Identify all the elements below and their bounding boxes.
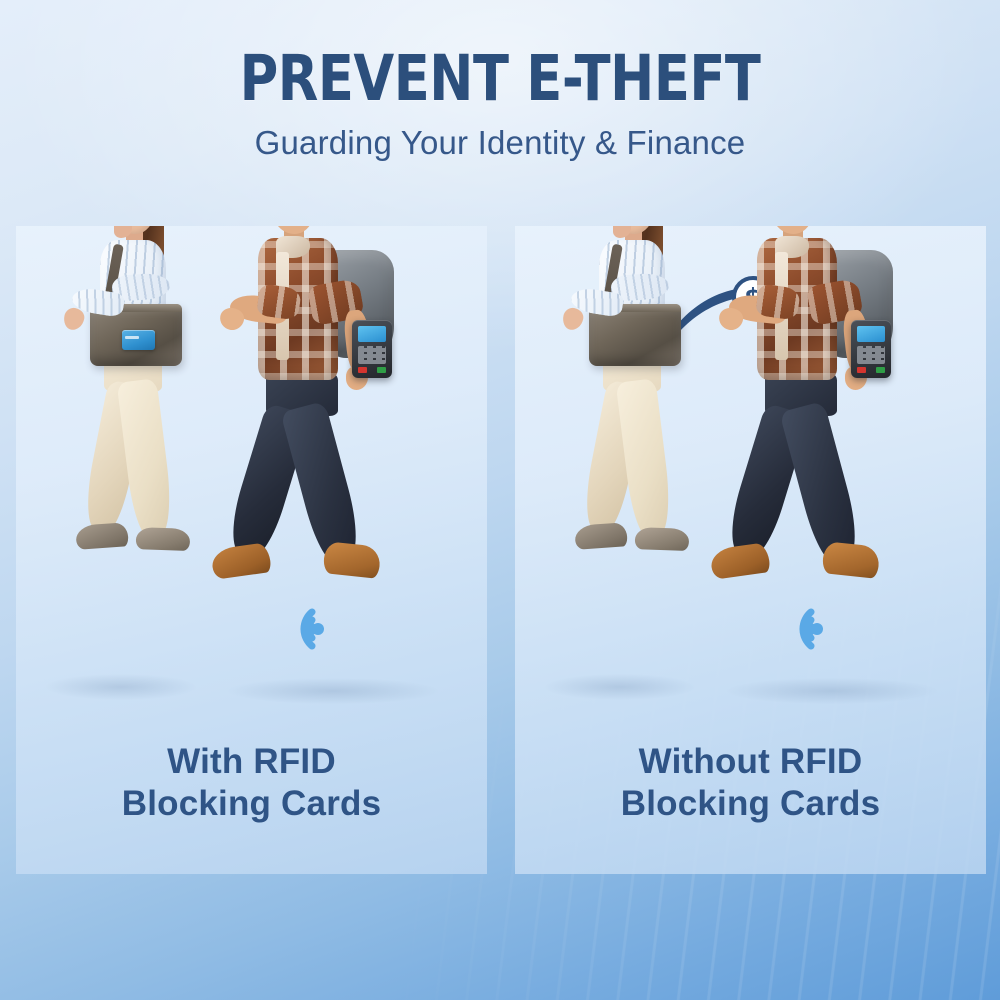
figure-woman-without-wallet (549, 226, 739, 598)
page-title: PREVENT E-THEFT (35, 0, 965, 110)
panel-without-rfid: $ (515, 226, 986, 874)
card-reader-screen (857, 326, 885, 342)
man-boot-front (821, 541, 880, 579)
man-boot-front (322, 541, 381, 579)
woman-leg-front (117, 378, 176, 538)
card-reader-cancel-key (358, 367, 367, 373)
woman-shadow (545, 674, 695, 700)
woman-shoe-back (574, 522, 628, 550)
man-shadow (727, 678, 937, 704)
woman-shoe-back (75, 522, 129, 550)
card-reader-keypad (358, 346, 386, 364)
woman-shoe-front (136, 527, 191, 551)
card-reader-enter-key (377, 367, 386, 373)
header: PREVENT E-THEFT Guarding Your Identity &… (0, 0, 1000, 159)
figure-man-with-scanner (713, 226, 948, 608)
woman-leg-front (616, 378, 675, 538)
rfid-blocking-wallet (122, 330, 155, 350)
card-reader-screen (358, 326, 386, 342)
scene-with-rfid (16, 226, 487, 696)
man-boot-back (709, 542, 771, 580)
man-shadow (228, 678, 438, 704)
figure-woman-with-wallet (50, 226, 240, 598)
infographic-canvas: PREVENT E-THEFT Guarding Your Identity &… (0, 0, 1000, 1000)
woman-shadow (46, 674, 196, 700)
scene-without-rfid: $ (515, 226, 986, 696)
panel-with-rfid: With RFID Blocking Cards (16, 226, 487, 874)
page-subtitle: Guarding Your Identity & Finance (0, 110, 1000, 159)
woman-shoe-front (635, 527, 690, 551)
panel-caption-with-rfid: With RFID Blocking Cards (16, 741, 487, 826)
man-head (272, 226, 314, 234)
figure-man-with-scanner (214, 226, 449, 608)
man-head (771, 226, 813, 234)
card-reader-enter-key (876, 367, 885, 373)
card-reader-keypad (857, 346, 885, 364)
man-boot-back (210, 542, 272, 580)
man-leg-front (779, 401, 864, 566)
man-leg-front (280, 401, 365, 566)
panel-caption-without-rfid: Without RFID Blocking Cards (515, 741, 986, 826)
card-reader-cancel-key (857, 367, 866, 373)
